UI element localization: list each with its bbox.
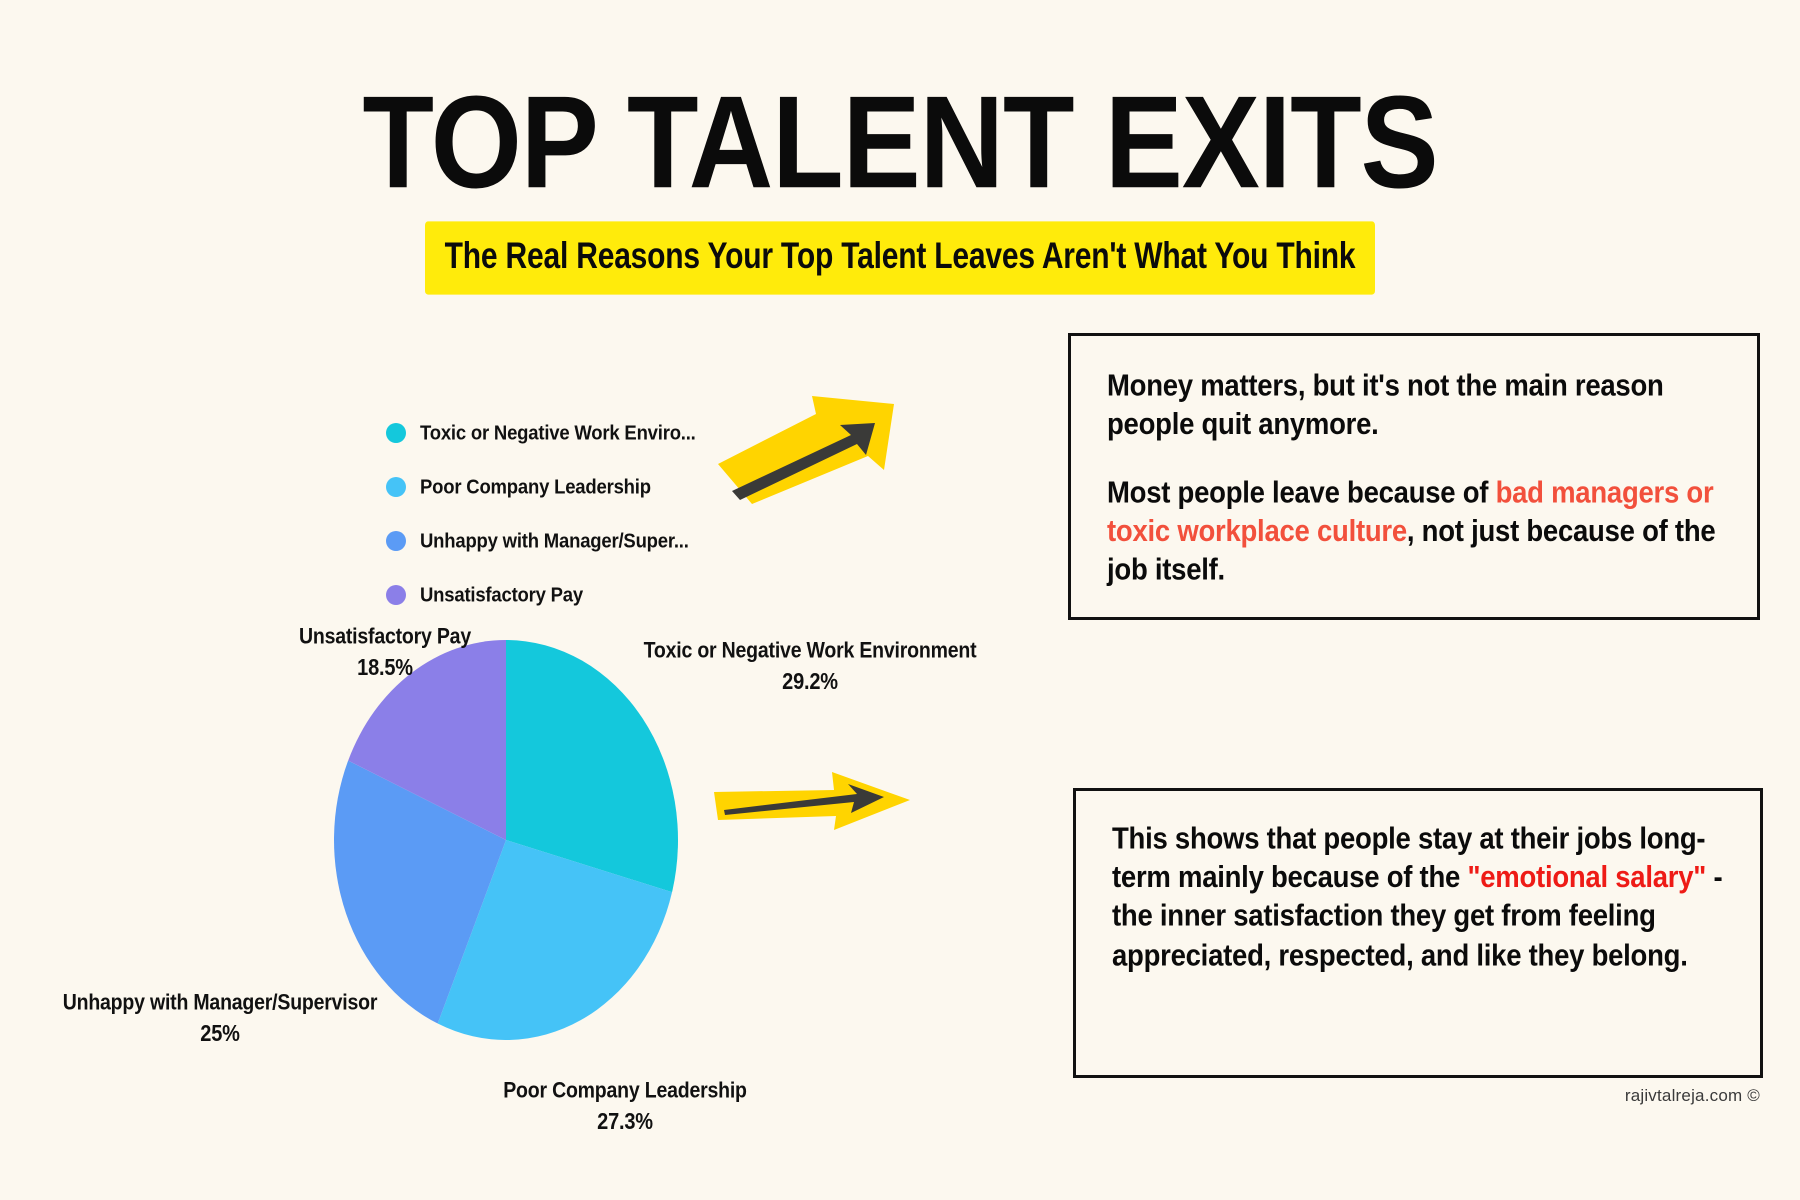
callout-text-pre: Most people leave because of [1107, 476, 1496, 510]
callout-box-emotional-salary-content: This shows that people stay at their job… [1076, 791, 1760, 960]
legend-swatch-icon [386, 531, 406, 551]
legend-item-label: Poor Company Leadership [420, 475, 651, 500]
callout-text-highlight: "emotional salary" [1467, 860, 1706, 894]
watermark: rajivtalreja.com © [1625, 1086, 1760, 1106]
page-title: TOP TALENT EXITS [0, 78, 1800, 209]
pie-label-pay: Unsatisfactory Pay 18.5% [250, 626, 520, 680]
pie-label-leadership: Poor Company Leadership 27.3% [455, 1080, 795, 1134]
callout-paragraph-2: Most people leave because of bad manager… [1107, 473, 1723, 589]
callout-box-money: Money matters, but it's not the main rea… [1068, 333, 1760, 620]
pie-chart [330, 640, 750, 1040]
pie-label-value: 25% [0, 1020, 440, 1048]
callout-box-emotional-salary: This shows that people stay at their job… [1073, 788, 1763, 1078]
arrow-right-icon [712, 770, 912, 840]
pie-label-manager: Unhappy with Manager/Supervisor 25% [0, 992, 440, 1046]
callout-paragraph-1: Money matters, but it's not the main rea… [1107, 366, 1723, 443]
legend-item-label: Unsatisfactory Pay [420, 583, 583, 608]
legend-swatch-icon [386, 585, 406, 605]
callout-box-money-content: Money matters, but it's not the main rea… [1071, 336, 1757, 579]
legend-item-label: Toxic or Negative Work Enviro... [420, 421, 696, 446]
subtitle-highlight: The Real Reasons Your Top Talent Leaves … [425, 221, 1376, 294]
pie-label-value: 29.2% [600, 668, 1020, 696]
arrow-up-right-icon [716, 392, 898, 508]
legend-item-label: Unhappy with Manager/Super... [420, 529, 689, 554]
pie-label-toxic: Toxic or Negative Work Environment 29.2% [600, 640, 1020, 694]
legend-item-manager[interactable]: Unhappy with Manager/Super... [386, 514, 806, 568]
callout-paragraph-1: This shows that people stay at their job… [1112, 819, 1726, 974]
legend-item-pay[interactable]: Unsatisfactory Pay [386, 568, 806, 622]
legend-swatch-icon [386, 477, 406, 497]
legend-swatch-icon [386, 423, 406, 443]
pie-label-name: Toxic or Negative Work Environment [600, 638, 1020, 665]
pie-label-name: Unsatisfactory Pay [250, 624, 520, 651]
pie-label-value: 18.5% [250, 654, 520, 682]
pie-label-name: Unhappy with Manager/Supervisor [0, 990, 440, 1017]
pie-chart-svg [330, 640, 750, 1040]
pie-label-value: 27.3% [455, 1108, 795, 1136]
subtitle-container: The Real Reasons Your Top Talent Leaves … [0, 228, 1800, 288]
infographic-canvas: TOP TALENT EXITS The Real Reasons Your T… [0, 0, 1800, 1200]
pie-slice-group [334, 640, 678, 1040]
pie-label-name: Poor Company Leadership [455, 1078, 795, 1105]
